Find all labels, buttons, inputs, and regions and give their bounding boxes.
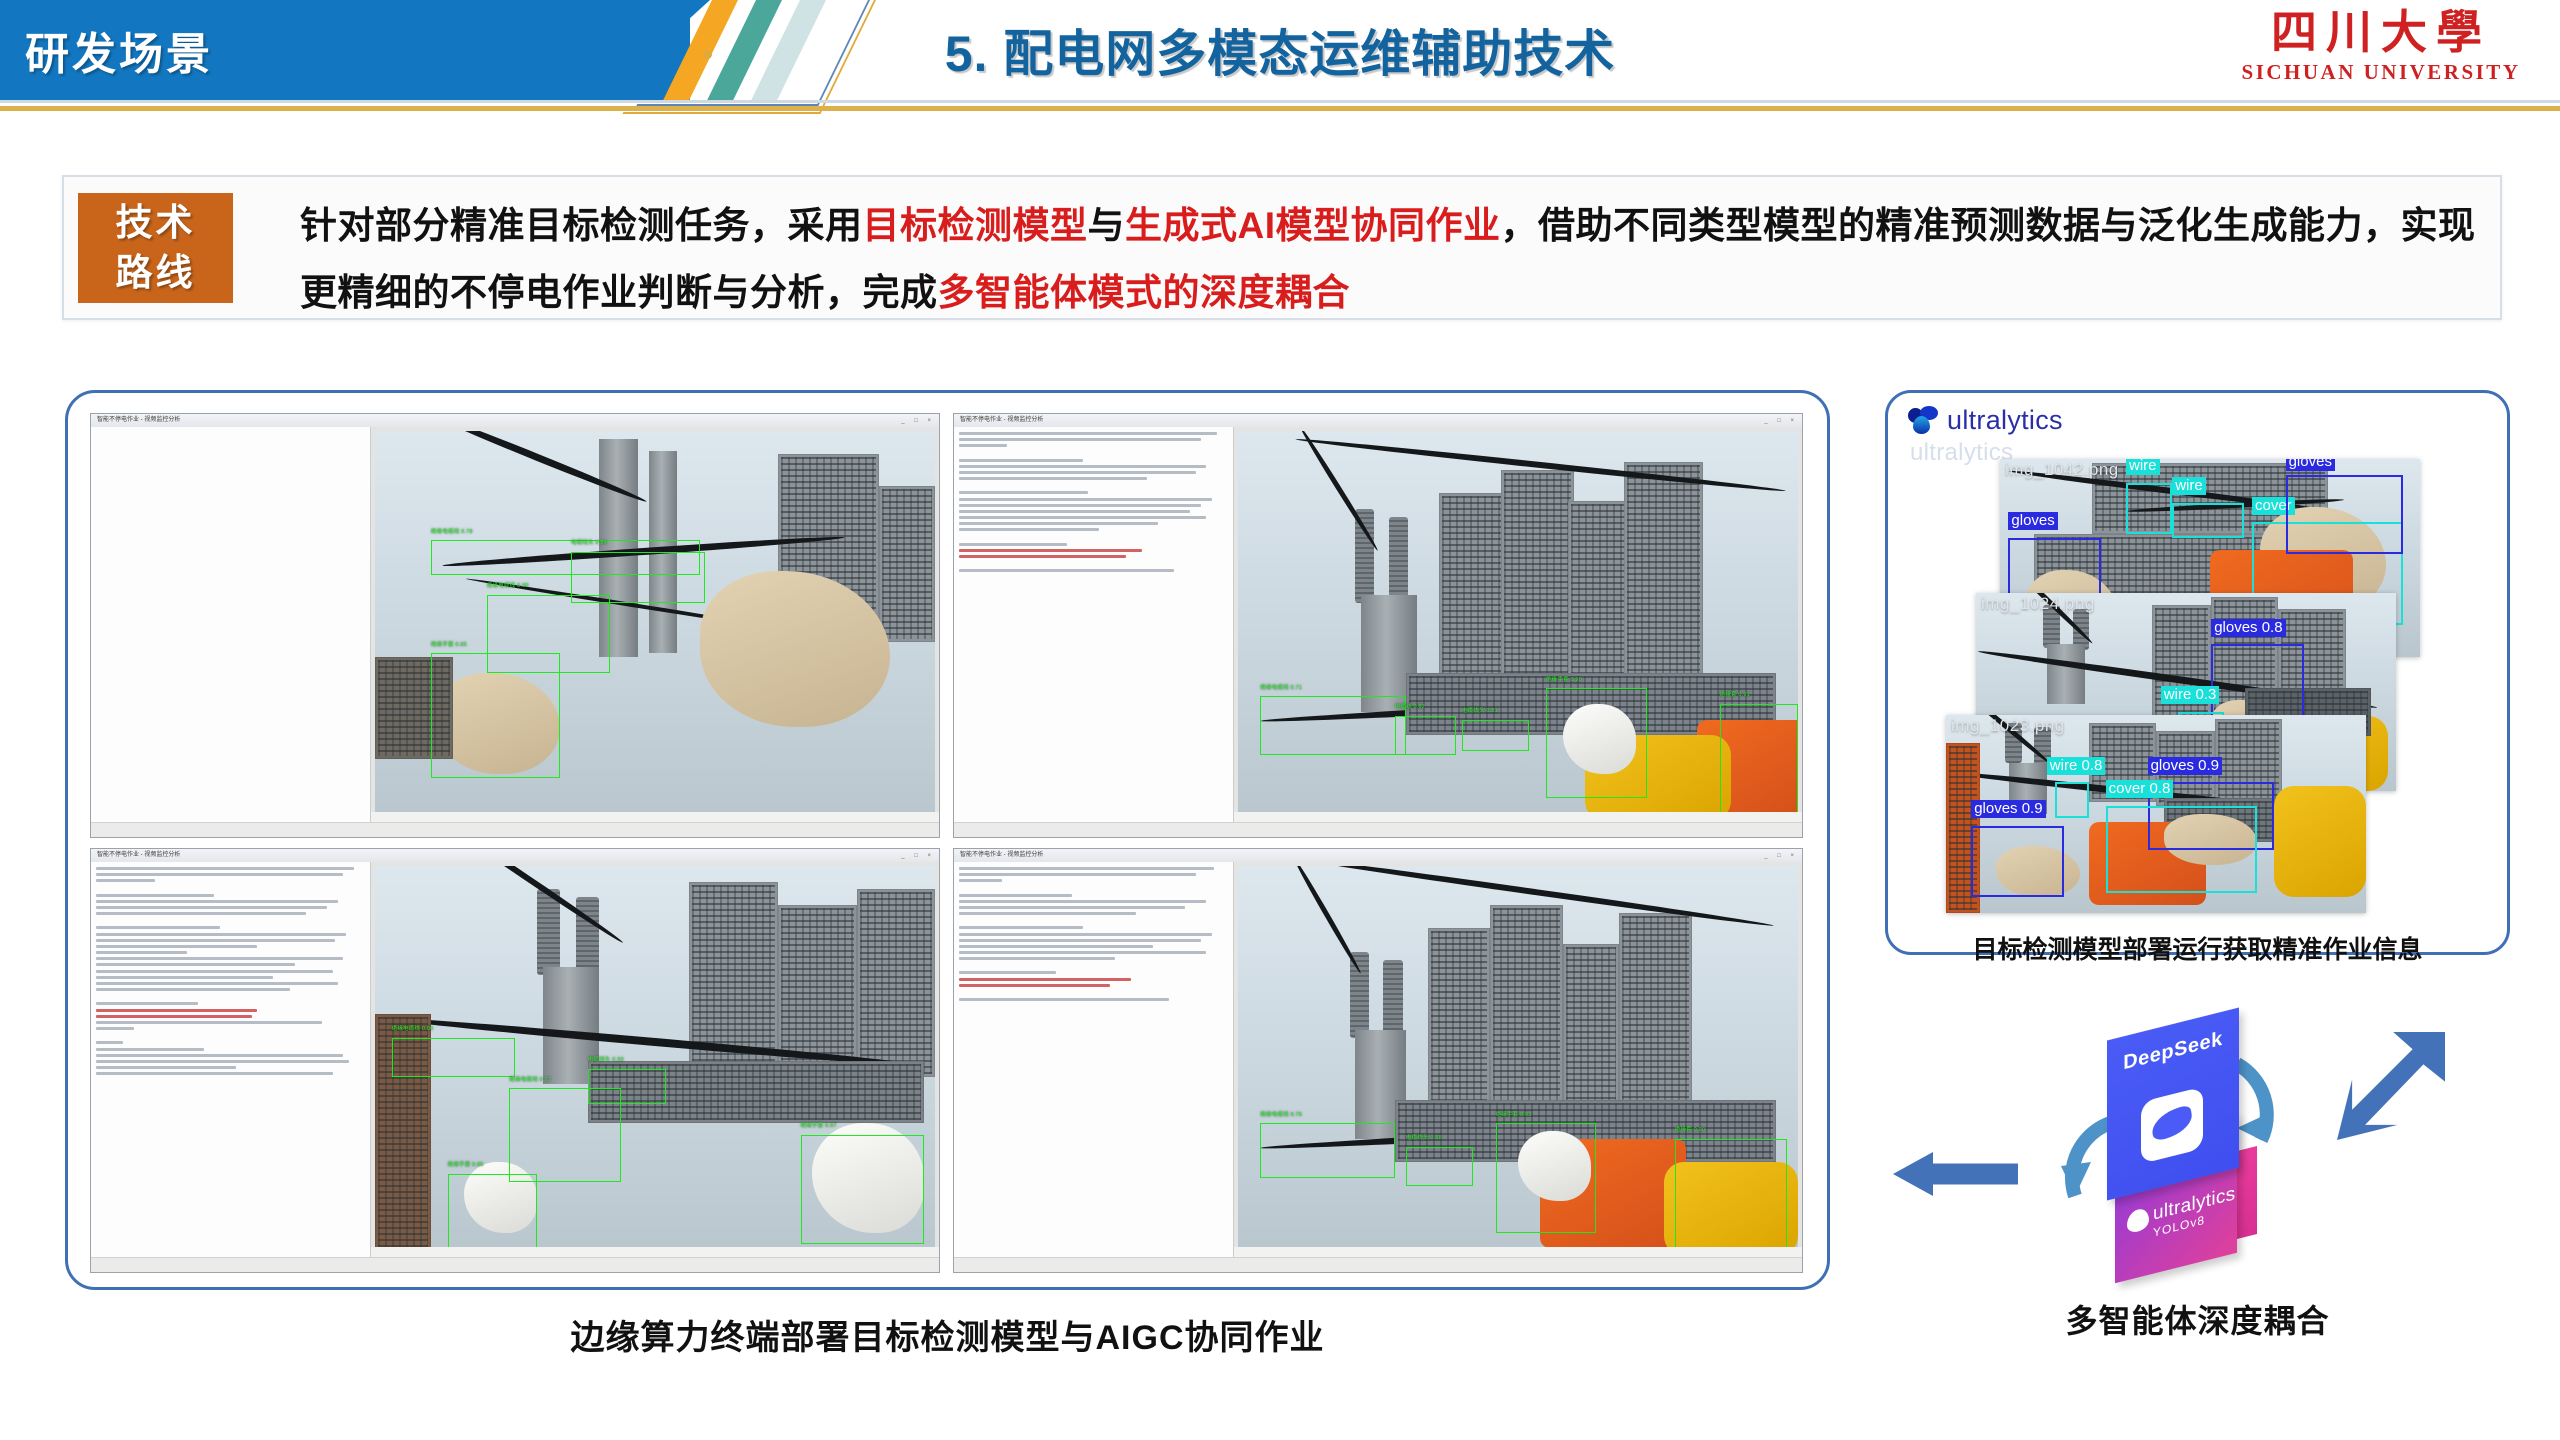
detection-label: 电缆线头 0.93 — [588, 1055, 624, 1063]
right-panel-caption: 目标检测模型部署运行获取精准作业信息 — [1885, 930, 2510, 966]
edge-terminal-panel: 智能不停电作业 - 视频监控分析 _ □ × — [65, 390, 1830, 1290]
thumbnail-filename: img_1042.png — [2005, 460, 2119, 480]
page-title: 5. 配电网多模态运维辅助技术 — [0, 14, 2560, 86]
app-window-4-analysis-pane — [954, 862, 1234, 1272]
ultralytics-ghost-text: ultralytics — [1910, 439, 2013, 467]
left-panel-caption: 边缘算力终端部署目标检测模型与AIGC协同作业 — [65, 1310, 1830, 1359]
ultralytics-mark-icon — [1908, 406, 1938, 436]
app-window-1-analysis-pane — [91, 427, 371, 837]
detection-photo-1: 绝缘电缆线 0.78 电缆线头 0.84 绝缘电缆线 0.90 绝缘手套 0.6… — [375, 431, 935, 821]
detection-label: 绝缘套 0.91 — [1720, 690, 1750, 698]
multi-agent-coupling-diagram: ultralytics YOLOv8 DeepSeek — [1885, 1000, 2510, 1300]
detection-label: gloves — [2008, 512, 2057, 530]
detection-label: 绝缘手套 0.65 — [431, 640, 467, 648]
ultralytics-wordmark: ultralytics — [1947, 405, 2063, 436]
detection-label: gloves — [2286, 459, 2335, 471]
arrow-left-icon — [1893, 1152, 2018, 1196]
detection-label: cover 0.8 — [2106, 780, 2174, 798]
tech-route-tag: 技术 路线 — [78, 193, 233, 303]
app-window-3-titlebar[interactable]: 智能不停电作业 - 视频监控分析 _ □ × — [91, 849, 939, 863]
detection-label: 电缆线头 0.88 — [1406, 1133, 1442, 1141]
app-window-3-title: 智能不停电作业 - 视频监控分析 — [97, 852, 180, 858]
ultralytics-small-icon — [2127, 1207, 2149, 1234]
slide-header: 研发场景 5. 配电网多模态运维辅助技术 四川大學 SICHUAN UNIVER… — [0, 0, 2560, 118]
ultralytics-logo: ultralytics — [1908, 405, 2063, 436]
header-rule-light — [0, 100, 2560, 103]
object-detection-panel: ultralytics ultralytics wire wire cover … — [1885, 390, 2510, 955]
detection-label: 绝缘电缆线 0.75 — [1260, 1110, 1302, 1118]
app-window-3-footer — [91, 1257, 939, 1272]
app-window-2-footer — [954, 822, 1802, 837]
detection-thumbnail-3: wire 0.8 gloves 0.9 cover 0.8 gloves 0.9… — [1946, 715, 2366, 913]
app-window-1[interactable]: 智能不停电作业 - 视频监控分析 _ □ × — [90, 413, 940, 838]
app-window-1-footer — [91, 822, 939, 837]
app-window-1-title: 智能不停电作业 - 视频监控分析 — [97, 417, 180, 423]
tech-route-text: 针对部分精准目标检测任务，采用目标检测模型与生成式AI模型协同作业，借助不同类型… — [300, 192, 2480, 326]
detection-photo-3: 绝缘电缆线 0.80 电缆线头 0.93 绝缘电缆线 0.72 绝缘手套 0.9… — [375, 866, 935, 1256]
coupling-caption: 多智能体深度耦合 — [1885, 1296, 2510, 1342]
app-window-4-title: 智能不停电作业 - 视频监控分析 — [960, 852, 1043, 858]
app-window-3[interactable]: 智能不停电作业 - 视频监控分析 _ □ × — [90, 848, 940, 1273]
detection-label: 电缆线头 0.84 — [571, 538, 607, 546]
detection-label: wire 0.3 — [2161, 686, 2220, 704]
route-seg-1: 目标检测模型 — [863, 205, 1088, 246]
route-seg-5: 多智能体模式的深度耦合 — [938, 272, 1351, 313]
detection-label: 电缆线头 0.81 — [1462, 706, 1498, 714]
detection-label: 电缆线 0.82 — [1395, 702, 1425, 710]
detection-label: wire — [2172, 477, 2206, 495]
detection-label: 绝缘电缆线 0.80 — [392, 1024, 434, 1032]
detection-label: 绝缘套 0.90 — [1675, 1125, 1705, 1133]
route-seg-0: 针对部分精准目标检测任务，采用 — [300, 205, 863, 246]
detection-label: 绝缘电缆线 0.71 — [1260, 683, 1302, 691]
detection-label: 绝缘电缆线 0.72 — [509, 1075, 551, 1083]
route-seg-2: 与 — [1088, 205, 1126, 246]
tech-route-tag-line1: 技术 — [116, 198, 196, 248]
detection-label: 绝缘电缆线 0.90 — [487, 581, 529, 589]
app-window-1-video-pane: 绝缘电缆线 0.78 电缆线头 0.84 绝缘电缆线 0.90 绝缘手套 0.6… — [371, 427, 939, 837]
deepseek-whale-icon — [2141, 1087, 2203, 1164]
detection-label: 绝缘手套 0.93 — [1496, 1110, 1532, 1118]
detection-label: gloves 0.9 — [2148, 757, 2222, 775]
detection-photo-2: 绝缘电缆线 0.71 电缆线 0.82 电缆线头 0.81 绝缘手套 0.90 … — [1238, 431, 1798, 821]
detection-label: gloves 0.8 — [2211, 619, 2285, 637]
detection-label: wire 0.8 — [2047, 757, 2106, 775]
detection-label: 绝缘电缆线 0.78 — [431, 527, 473, 535]
app-window-4-titlebar[interactable]: 智能不停电作业 - 视频监控分析 _ □ × — [954, 849, 1802, 863]
app-window-2-body: 绝缘电缆线 0.71 电缆线 0.82 电缆线头 0.81 绝缘手套 0.90 … — [954, 427, 1802, 837]
card-deepseek-label: DeepSeek — [2107, 1024, 2239, 1080]
detection-photo-4: 绝缘电缆线 0.75 电缆线头 0.88 绝缘手套 0.93 绝缘套 0.90 — [1238, 866, 1798, 1256]
sichuan-university-logo: 四川大學 SICHUAN UNIVERSITY — [2216, 6, 2546, 104]
arrow-diagonal-icon — [2337, 1032, 2445, 1140]
app-window-4-video-pane: 绝缘电缆线 0.75 电缆线头 0.88 绝缘手套 0.93 绝缘套 0.90 — [1234, 862, 1802, 1272]
app-window-4[interactable]: 智能不停电作业 - 视频监控分析 _ □ × — [953, 848, 1803, 1273]
app-window-4-body: 绝缘电缆线 0.75 电缆线头 0.88 绝缘手套 0.93 绝缘套 0.90 — [954, 862, 1802, 1272]
app-window-2-title: 智能不停电作业 - 视频监控分析 — [960, 417, 1043, 423]
app-window-4-footer — [954, 1257, 1802, 1272]
app-window-2-titlebar[interactable]: 智能不停电作业 - 视频监控分析 _ □ × — [954, 414, 1802, 428]
app-window-2-video-pane: 绝缘电缆线 0.71 电缆线 0.82 电缆线头 0.81 绝缘手套 0.90 … — [1234, 427, 1802, 837]
tech-route-tag-line2: 路线 — [116, 248, 196, 298]
logo-english-name: SICHUAN UNIVERSITY — [2216, 60, 2546, 85]
card-deepseek: DeepSeek — [2107, 1008, 2239, 1201]
thumbnail-filename: img_1023.png — [1951, 716, 2065, 736]
app-window-2-analysis-pane — [954, 427, 1234, 837]
slide-root: 研发场景 5. 配电网多模态运维辅助技术 四川大學 SICHUAN UNIVER… — [0, 0, 2560, 1440]
app-window-3-analysis-pane — [91, 862, 371, 1272]
route-seg-3: 生成式AI模型协同作业 — [1125, 205, 1501, 246]
app-window-1-titlebar[interactable]: 智能不停电作业 - 视频监控分析 _ □ × — [91, 414, 939, 428]
header-rule-gold — [0, 106, 2560, 111]
app-window-2[interactable]: 智能不停电作业 - 视频监控分析 _ □ × — [953, 413, 1803, 838]
detection-label: gloves 0.9 — [1971, 800, 2045, 818]
detection-label: wire — [2126, 459, 2160, 475]
detection-label: 绝缘手套 0.85 — [448, 1160, 484, 1168]
detection-label: 绝缘手套 0.90 — [1546, 675, 1582, 683]
app-window-3-video-pane: 绝缘电缆线 0.80 电缆线头 0.93 绝缘电缆线 0.72 绝缘手套 0.9… — [371, 862, 939, 1272]
detection-label: 绝缘手套 0.97 — [801, 1121, 837, 1129]
app-window-3-body: 绝缘电缆线 0.80 电缆线头 0.93 绝缘电缆线 0.72 绝缘手套 0.9… — [91, 862, 939, 1272]
thumbnail-filename: img_1024.png — [1981, 594, 2095, 614]
logo-chinese-name: 四川大學 — [2216, 6, 2546, 60]
app-window-1-body: 绝缘电缆线 0.78 电缆线头 0.84 绝缘电缆线 0.90 绝缘手套 0.6… — [91, 427, 939, 837]
